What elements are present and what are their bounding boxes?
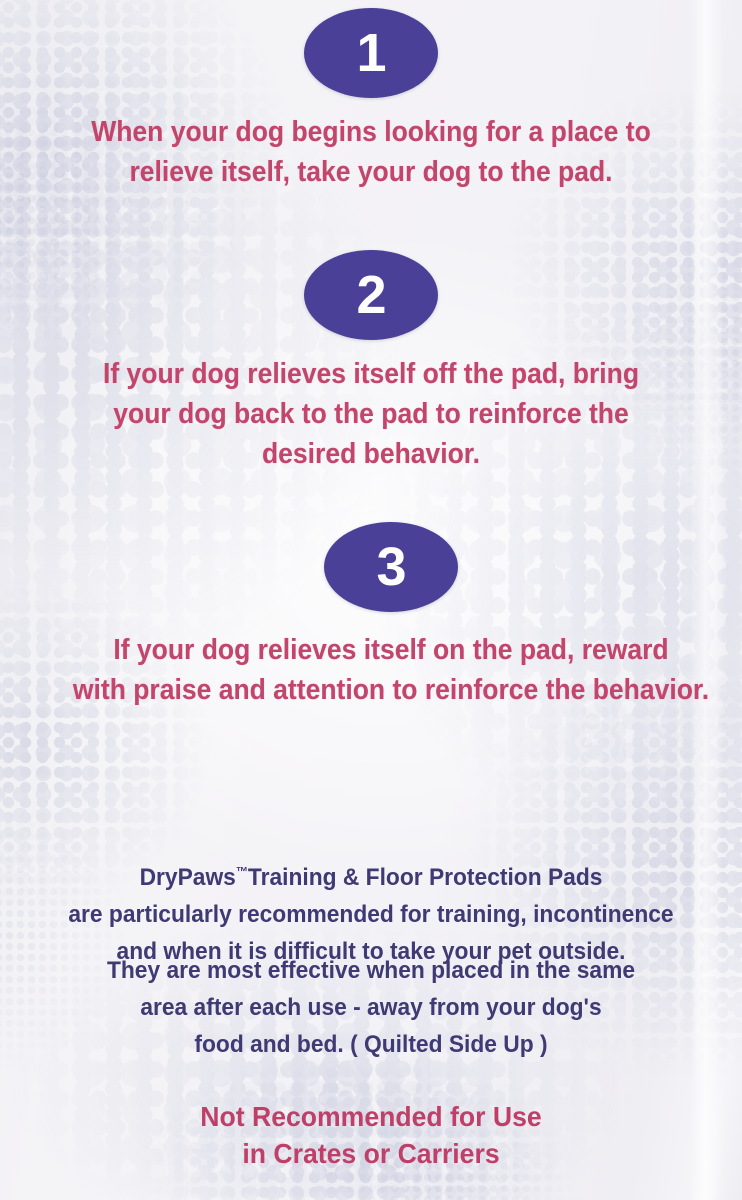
step-number-badge-2: 2	[304, 250, 438, 340]
brand-line: DryPaws™Training & Floor Protection Pads	[26, 853, 716, 896]
step-3-text: If your dog relieves itself on the pad, …	[46, 630, 736, 710]
step-number-badge-3: 3	[324, 522, 458, 612]
package-panel: 1 When your dog begins looking for a pla…	[0, 0, 742, 1200]
step-3: 3 If your dog relieves itself on the pad…	[20, 522, 742, 710]
trademark-symbol: ™	[236, 864, 248, 879]
warning-text: Not Recommended for Use in Crates or Car…	[19, 1098, 724, 1172]
step-number-badge-1: 1	[304, 8, 438, 98]
step-1: 1 When your dog begins looking for a pla…	[0, 8, 742, 192]
step-1-text: When your dog begins looking for a place…	[26, 112, 716, 192]
step-2: 2 If your dog relieves itself off the pa…	[0, 250, 742, 474]
product-info-paragraph-2: They are most effective when placed in t…	[26, 952, 716, 1063]
brand-name: DryPaws	[140, 864, 236, 891]
brand-suffix: Training & Floor Protection Pads	[248, 864, 602, 891]
instructions-content: 1 When your dog begins looking for a pla…	[0, 0, 742, 1200]
product-info-paragraph-1: DryPaws™Training & Floor Protection Pads…	[26, 816, 716, 970]
step-2-text: If your dog relieves itself off the pad,…	[26, 354, 716, 474]
